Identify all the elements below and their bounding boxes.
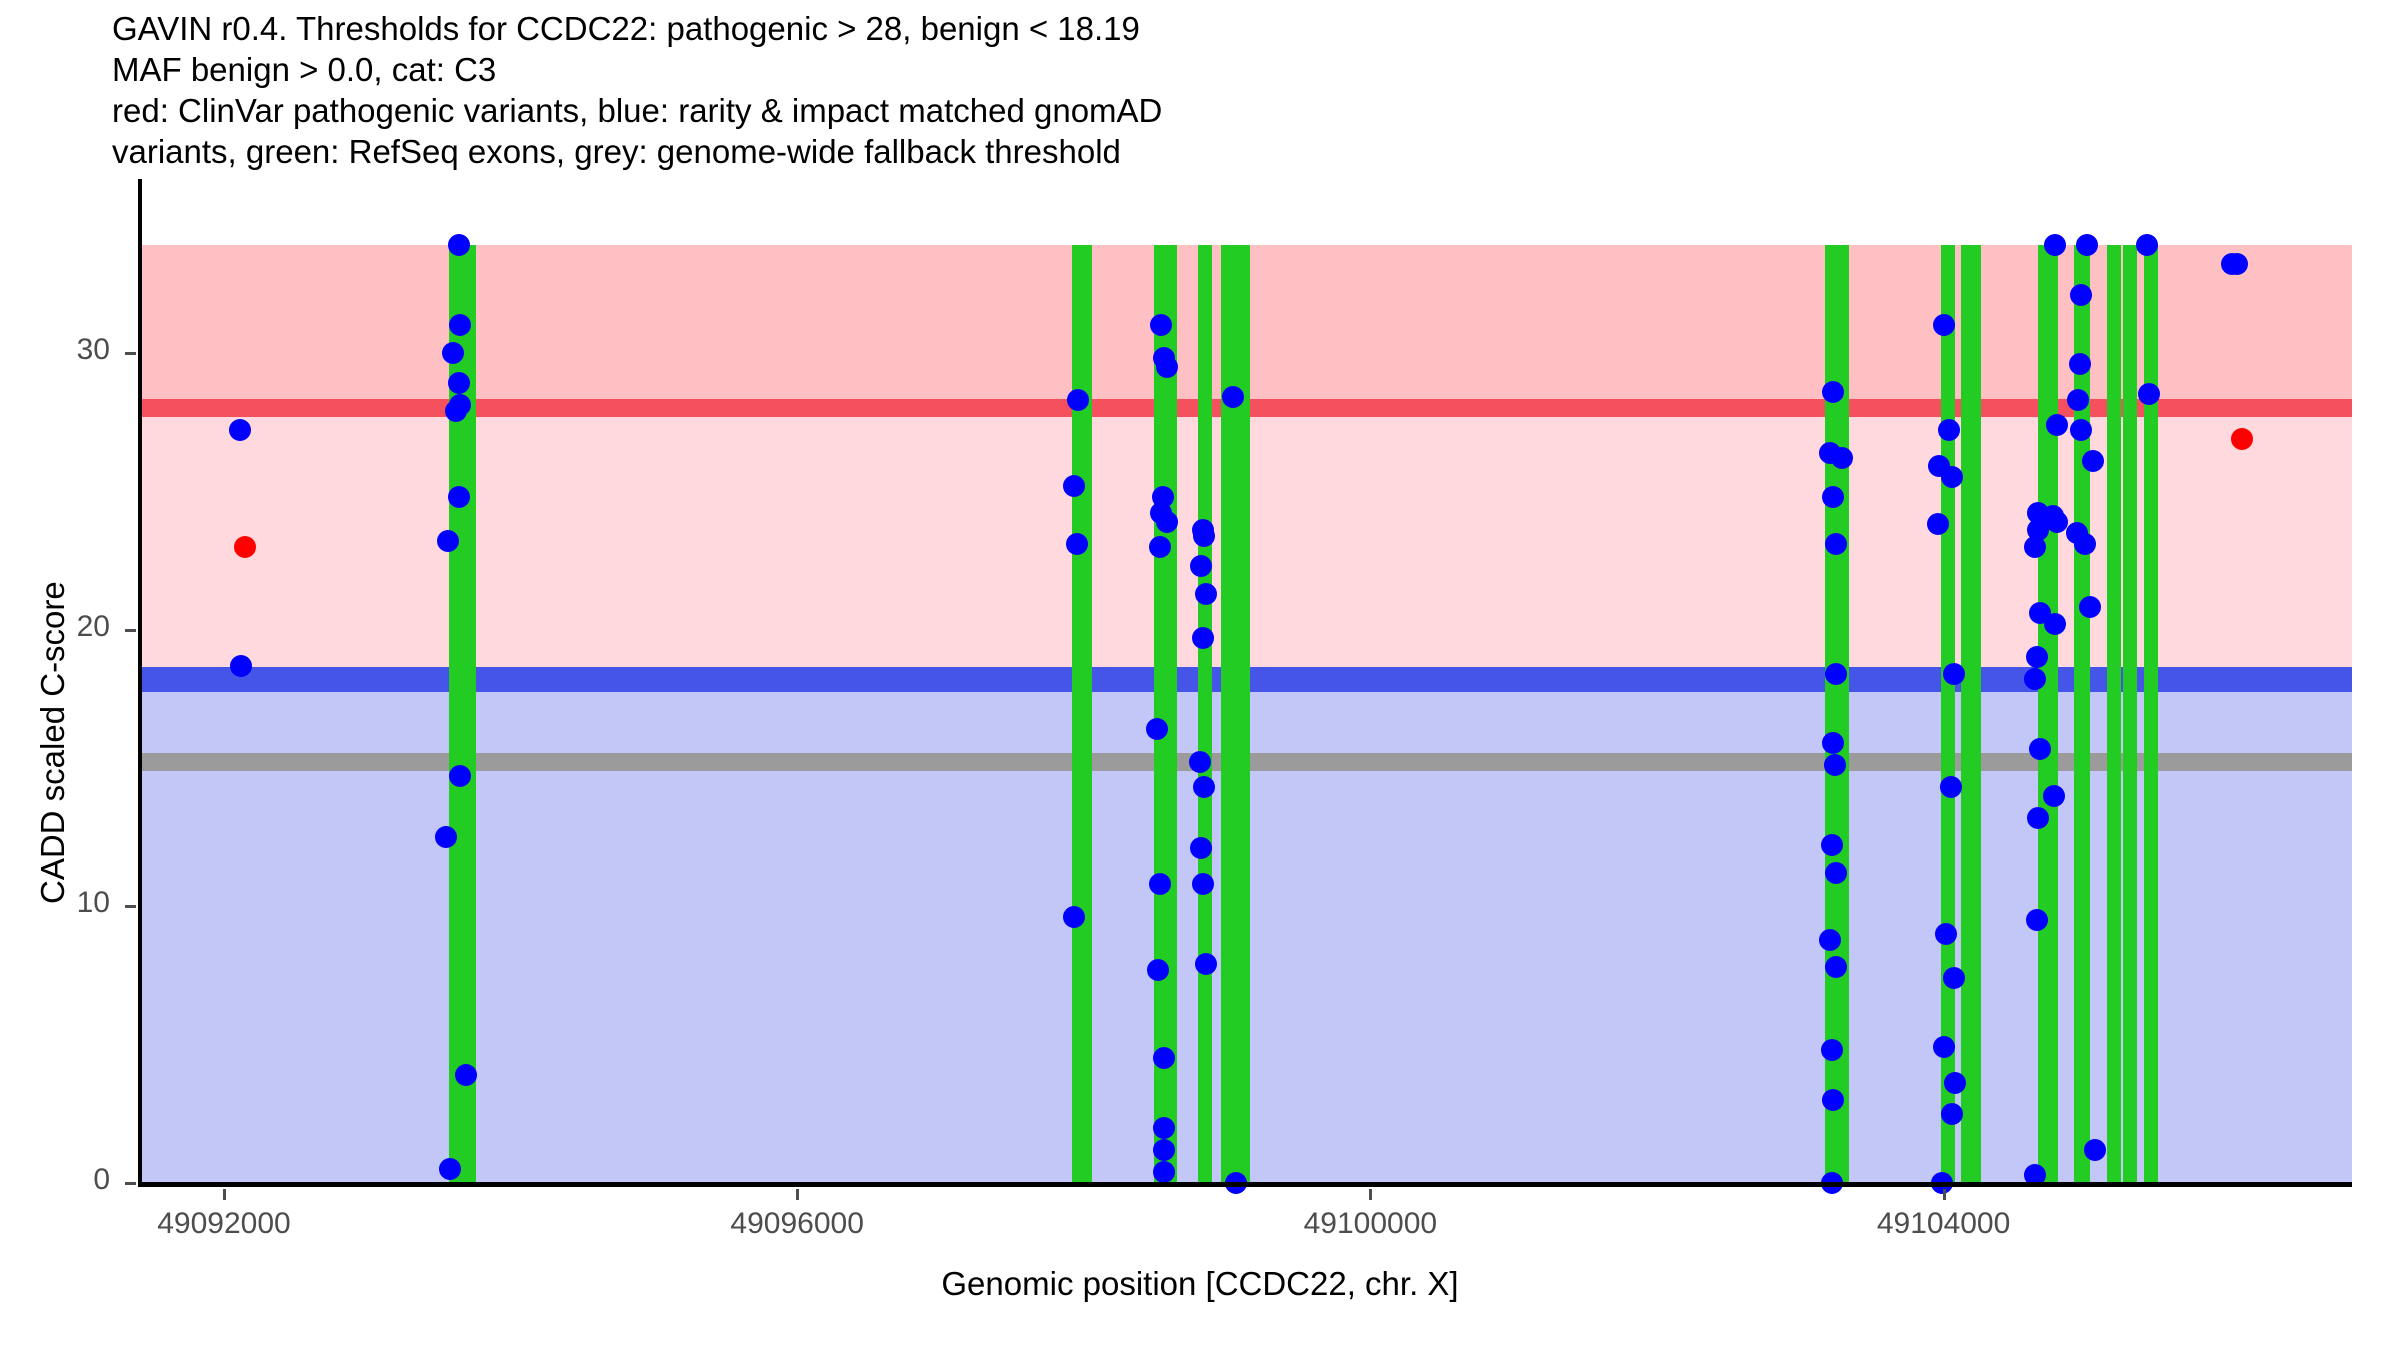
- x-axis-label: Genomic position [CCDC22, chr. X]: [0, 1265, 2400, 1303]
- y-tick-label: 30: [0, 333, 110, 367]
- gnomad-variant-point: [2046, 511, 2068, 533]
- title-line-4: variants, green: RefSeq exons, grey: gen…: [112, 131, 2312, 172]
- gnomad-variant-point: [1825, 663, 1847, 685]
- gnomad-variant-point: [1195, 953, 1217, 975]
- gnomad-variant-point: [442, 342, 464, 364]
- y-tick-label: 20: [0, 610, 110, 644]
- gnomad-variant-point: [2024, 536, 2046, 558]
- gnomad-variant-point: [1149, 536, 1171, 558]
- x-tick-mark: [796, 1189, 799, 1200]
- y-axis-line: [138, 179, 142, 1183]
- exon-bar: [2107, 245, 2121, 1183]
- exon-bar: [1961, 245, 1981, 1183]
- gnomad-variant-point: [1822, 381, 1844, 403]
- gnomad-variant-point: [1153, 1139, 1175, 1161]
- gnomad-variant-point: [437, 530, 459, 552]
- clinvar-variant-point: [234, 536, 256, 558]
- plot-root: GAVIN r0.4. Thresholds for CCDC22: patho…: [0, 0, 2400, 1350]
- x-tick-mark: [1943, 1189, 1946, 1200]
- gnomad-variant-point: [448, 486, 470, 508]
- exon-bar: [2123, 245, 2137, 1183]
- title-line-2: MAF benign > 0.0, cat: C3: [112, 49, 2312, 90]
- gnomad-variant-point: [1063, 906, 1085, 928]
- y-tick-mark: [125, 352, 136, 355]
- gnomad-variant-point: [2046, 414, 2068, 436]
- y-tick-mark: [125, 629, 136, 632]
- gnomad-variant-point: [1153, 1161, 1175, 1183]
- gnomad-variant-point: [2076, 234, 2098, 256]
- y-tick-label: 0: [0, 1163, 110, 1197]
- exon-bar: [1072, 245, 1092, 1183]
- gnomad-variant-point: [1195, 583, 1217, 605]
- gnomad-variant-point: [1153, 1117, 1175, 1139]
- gnomad-variant-point: [1819, 929, 1841, 951]
- gnomad-variant-point: [1821, 1039, 1843, 1061]
- gnomad-variant-point: [1156, 356, 1178, 378]
- gnomad-variant-point: [2043, 785, 2065, 807]
- gnomad-variant-point: [1066, 533, 1088, 555]
- exon-bar: [1154, 245, 1177, 1183]
- gnomad-variant-point: [1192, 873, 1214, 895]
- title-line-3: red: ClinVar pathogenic variants, blue: …: [112, 90, 2312, 131]
- y-tick-label: 10: [0, 886, 110, 920]
- x-tick-label: 49100000: [1240, 1207, 1500, 1241]
- exon-bar: [2038, 245, 2058, 1183]
- gnomad-variant-point: [1933, 1036, 1955, 1058]
- x-tick-label: 49096000: [667, 1207, 927, 1241]
- gnomad-variant-point: [2070, 284, 2092, 306]
- gnomad-variant-point: [445, 400, 467, 422]
- gnomad-variant-point: [1825, 533, 1847, 555]
- gnomad-variant-point: [1193, 525, 1215, 547]
- gnomad-variant-point: [1941, 1103, 1963, 1125]
- gnomad-variant-point: [2082, 450, 2104, 472]
- clinvar-variant-point: [2231, 428, 2253, 450]
- exon-bar: [2074, 245, 2090, 1183]
- y-tick-mark: [125, 905, 136, 908]
- gnomad-variant-point: [1822, 486, 1844, 508]
- plot-panel: [138, 245, 2352, 1183]
- gnomad-variant-point: [2138, 383, 2160, 405]
- gnomad-variant-point: [1146, 718, 1168, 740]
- gnomad-variant-point: [2027, 807, 2049, 829]
- x-tick-label: 49092000: [94, 1207, 354, 1241]
- exon-bar: [1198, 245, 1212, 1183]
- gnomad-variant-point: [1943, 967, 1965, 989]
- x-tick-mark: [223, 1189, 226, 1200]
- gnomad-variant-point: [230, 655, 252, 677]
- y-tick-mark: [125, 1182, 136, 1185]
- gnomad-variant-point: [1222, 386, 1244, 408]
- gnomad-variant-point: [1831, 447, 1853, 469]
- gnomad-variant-point: [2026, 909, 2048, 931]
- gnomad-variant-point: [1940, 776, 1962, 798]
- gnomad-variant-point: [1192, 627, 1214, 649]
- gnomad-variant-point: [2069, 353, 2091, 375]
- gnomad-variant-point: [229, 419, 251, 441]
- gnomad-variant-point: [1063, 475, 1085, 497]
- gnomad-variant-point: [2029, 738, 2051, 760]
- gnomad-variant-point: [448, 234, 470, 256]
- gnomad-variant-point: [2026, 646, 2048, 668]
- gnomad-variant-point: [2136, 234, 2158, 256]
- x-tick-mark: [1369, 1189, 1372, 1200]
- gnomad-variant-point: [1149, 873, 1171, 895]
- gnomad-variant-point: [1824, 754, 1846, 776]
- gnomad-variant-point: [1943, 663, 1965, 685]
- gnomad-variant-point: [1156, 511, 1178, 533]
- gnomad-variant-point: [1933, 314, 1955, 336]
- title-line-1: GAVIN r0.4. Thresholds for CCDC22: patho…: [112, 8, 2312, 49]
- x-tick-label: 49104000: [1814, 1207, 2074, 1241]
- x-axis-line: [138, 1183, 2352, 1187]
- plot-title-block: GAVIN r0.4. Thresholds for CCDC22: patho…: [112, 8, 2312, 172]
- gnomad-variant-point: [1067, 389, 1089, 411]
